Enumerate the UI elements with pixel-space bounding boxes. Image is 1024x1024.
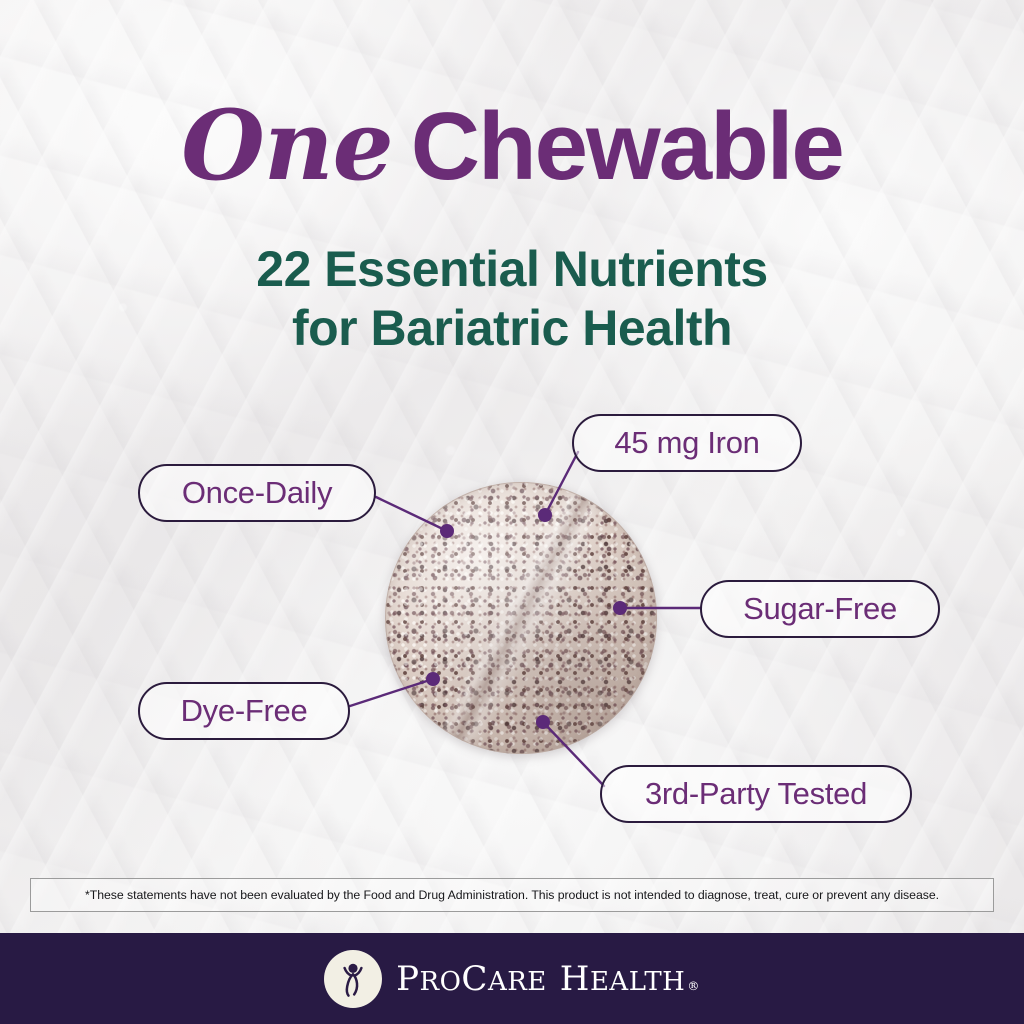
callout-label: Once-Daily	[182, 475, 332, 511]
fda-disclaimer: *These statements have not been evaluate…	[30, 878, 994, 912]
callout-45-mg-iron[interactable]: 45 mg Iron	[572, 414, 802, 472]
registered-mark: ®	[687, 979, 700, 993]
callout-3rd-party-tested[interactable]: 3rd-Party Tested	[600, 765, 912, 823]
callout-sugar-free[interactable]: Sugar-Free	[700, 580, 940, 638]
disclaimer-text: *These statements have not been evaluate…	[85, 888, 939, 902]
callout-dye-free[interactable]: Dye-Free	[138, 682, 350, 740]
product-infographic: OneChewable 22 Essential Nutrients for B…	[0, 0, 1024, 1024]
brand-logo: PROCAREHEALTH®	[324, 950, 700, 1008]
callout-label: Sugar-Free	[743, 591, 897, 627]
brand-p: P	[396, 959, 419, 999]
headline-word-one: One	[181, 89, 393, 202]
brand-ealth: EALTH	[590, 967, 685, 997]
callout-once-daily[interactable]: Once-Daily	[138, 464, 376, 522]
tablet-edge	[385, 482, 657, 754]
brand-name: PROCAREHEALTH®	[396, 959, 700, 999]
footer-bar: PROCAREHEALTH®	[0, 933, 1024, 1024]
callout-label: 45 mg Iron	[614, 425, 759, 461]
callout-label: 3rd-Party Tested	[645, 776, 867, 812]
human-figure-icon	[331, 957, 375, 1001]
logo-circle	[324, 950, 382, 1008]
brand-ro: RO	[420, 967, 462, 997]
brand-are: ARE	[488, 967, 547, 997]
brand-c: C	[461, 959, 488, 999]
subtitle-line-2: for Bariatric Health	[0, 299, 1024, 358]
brand-h: H	[560, 959, 590, 999]
subtitle-line-1: 22 Essential Nutrients	[256, 241, 767, 297]
callout-label: Dye-Free	[181, 693, 308, 729]
page-title: OneChewable	[0, 98, 1024, 195]
headline-word-chewable: Chewable	[411, 93, 843, 200]
page-subtitle: 22 Essential Nutrients for Bariatric Hea…	[0, 240, 1024, 358]
product-tablet-image	[385, 482, 657, 754]
